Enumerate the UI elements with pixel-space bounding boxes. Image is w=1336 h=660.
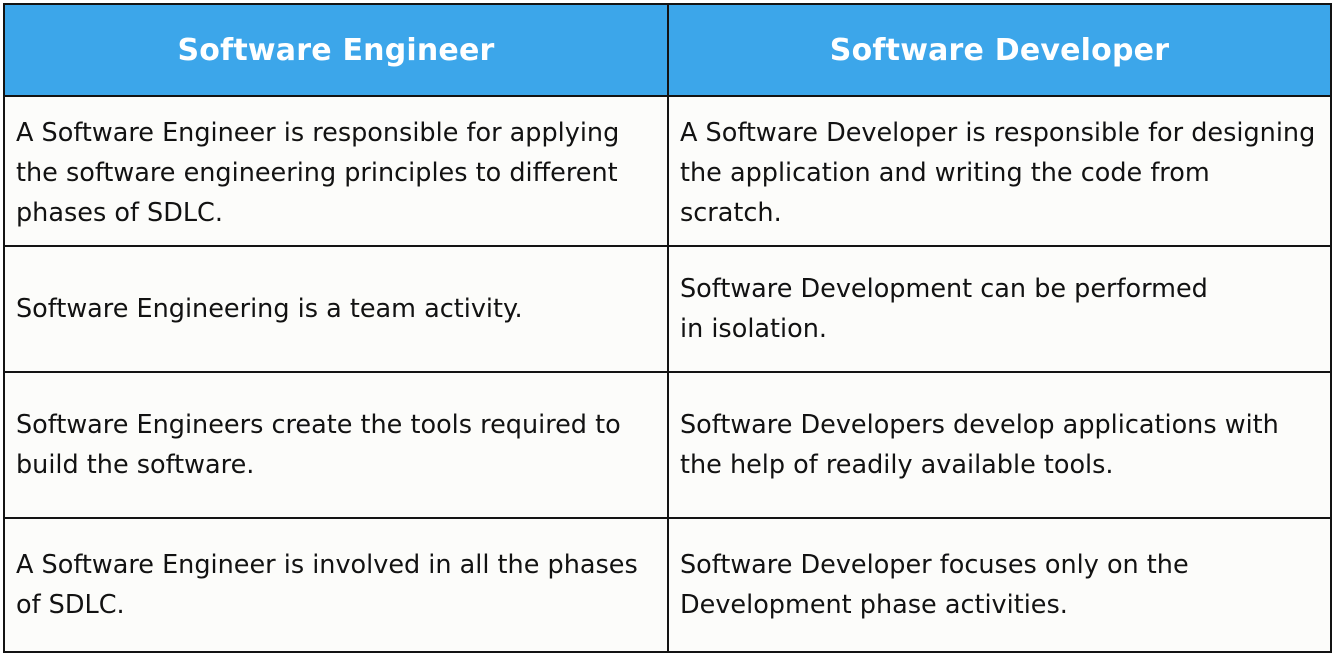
cell-developer-row-1: A Software Developer is responsible for … [668, 96, 1331, 246]
cell-text: Software Engineering is a team activity. [16, 289, 655, 329]
cell-text: A Software Engineer is responsible for a… [16, 113, 655, 233]
column-header-software-engineer: Software Engineer [4, 4, 668, 96]
table-row: Software Engineering is a team activity.… [4, 246, 1331, 372]
table-body: A Software Engineer is responsible for a… [4, 96, 1331, 652]
cell-text: A Software Engineer is involved in all t… [16, 545, 655, 625]
cell-engineer-row-1: A Software Engineer is responsible for a… [4, 96, 668, 246]
cell-developer-row-4: Software Developer focuses only on the D… [668, 518, 1331, 652]
table-row: A Software Engineer is involved in all t… [4, 518, 1331, 652]
table-header-row: Software Engineer Software Developer [4, 4, 1331, 96]
cell-text: A Software Developer is responsible for … [680, 113, 1318, 233]
column-header-software-developer: Software Developer [668, 4, 1331, 96]
software-engineer-vs-developer-table: Software Engineer Software Developer A S… [3, 3, 1332, 653]
table-row: Software Engineers create the tools requ… [4, 372, 1331, 518]
cell-text: Software Engineers create the tools requ… [16, 405, 655, 485]
cell-engineer-row-2: Software Engineering is a team activity. [4, 246, 668, 372]
cell-text: Software Developers develop applications… [680, 405, 1318, 485]
table-row: A Software Engineer is responsible for a… [4, 96, 1331, 246]
cell-developer-row-2: Software Development can be performed in… [668, 246, 1331, 372]
table-header: Software Engineer Software Developer [4, 4, 1331, 96]
cell-developer-row-3: Software Developers develop applications… [668, 372, 1331, 518]
cell-text: Software Developer focuses only on the D… [680, 545, 1318, 625]
cell-engineer-row-4: A Software Engineer is involved in all t… [4, 518, 668, 652]
cell-engineer-row-3: Software Engineers create the tools requ… [4, 372, 668, 518]
cell-text: Software Development can be performed in… [680, 269, 1318, 349]
